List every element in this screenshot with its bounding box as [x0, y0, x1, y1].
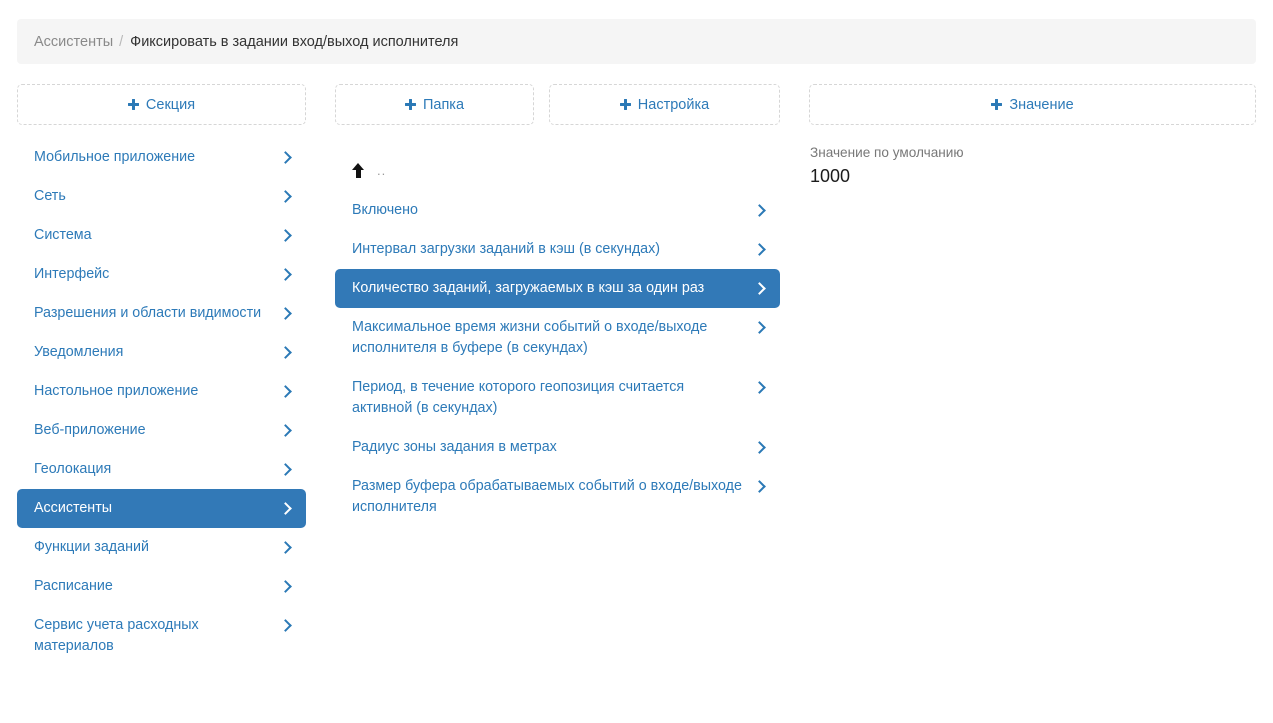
section-list-item[interactable]: Сервис учета расходных материалов	[17, 606, 306, 666]
section-list-item-label: Разрешения и области видимости	[34, 303, 270, 324]
section-list-item-label: Уведомления	[34, 342, 270, 363]
chevron-right-icon	[280, 420, 292, 441]
section-list-item-label: Сеть	[34, 186, 270, 207]
breadcrumb-separator: /	[119, 34, 123, 50]
section-list-item[interactable]: Интерфейс	[17, 255, 306, 294]
chevron-right-icon	[754, 476, 766, 497]
arrow-up-icon	[352, 163, 365, 178]
parent-folder-row[interactable]: ..	[335, 149, 780, 191]
setting-list-item-label: Включено	[352, 200, 744, 221]
chevron-right-icon	[280, 576, 292, 597]
plus-icon	[991, 99, 1002, 110]
section-list-item[interactable]: Мобильное приложение	[17, 138, 306, 177]
section-list-item[interactable]: Функции заданий	[17, 528, 306, 567]
setting-list-item-label: Период, в течение которого геопозиция сч…	[352, 377, 744, 419]
section-list-item-label: Система	[34, 225, 270, 246]
add-value-label: Значение	[1009, 97, 1073, 113]
setting-list-item[interactable]: Период, в течение которого геопозиция сч…	[335, 368, 780, 428]
setting-list-item-label: Размер буфера обрабатываемых событий о в…	[352, 476, 744, 518]
plus-icon	[405, 99, 416, 110]
add-section-label: Секция	[146, 97, 195, 113]
chevron-right-icon	[280, 381, 292, 402]
setting-list: ..ВключеноИнтервал загрузки заданий в кэ…	[335, 149, 780, 527]
default-value-block: Значение по умолчанию 1000	[809, 144, 1256, 188]
setting-list-item[interactable]: Включено	[335, 191, 780, 230]
setting-list-item-label: Максимальное время жизни событий о входе…	[352, 317, 744, 359]
setting-column: Настройка	[549, 84, 780, 125]
section-column: Секция Мобильное приложениеСетьСистемаИн…	[17, 84, 306, 666]
chevron-right-icon	[280, 303, 292, 324]
add-folder-label: Папка	[423, 97, 464, 113]
setting-list-item[interactable]: Максимальное время жизни событий о входе…	[335, 308, 780, 368]
folder-column: Папка	[335, 84, 534, 125]
chevron-right-icon	[754, 317, 766, 338]
section-list-item-label: Расписание	[34, 576, 270, 597]
chevron-right-icon	[280, 342, 292, 363]
add-section-button[interactable]: Секция	[17, 84, 306, 125]
section-list-item-label: Интерфейс	[34, 264, 270, 285]
chevron-right-icon	[280, 537, 292, 558]
breadcrumb-current: Фиксировать в задании вход/выход исполни…	[130, 34, 458, 50]
setting-list-item-label: Интервал загрузки заданий в кэш (в секун…	[352, 239, 744, 260]
chevron-right-icon	[280, 147, 292, 168]
chevron-right-icon	[754, 278, 766, 299]
setting-list-item-label: Радиус зоны задания в метрах	[352, 437, 744, 458]
default-value-number: 1000	[810, 164, 1255, 188]
breadcrumb: Ассистенты / Фиксировать в задании вход/…	[17, 19, 1256, 64]
section-list-item-label: Веб-приложение	[34, 420, 270, 441]
setting-list-item[interactable]: Радиус зоны задания в метрах	[335, 428, 780, 467]
setting-list-item-label: Количество заданий, загружаемых в кэш за…	[352, 278, 744, 299]
chevron-right-icon	[280, 615, 292, 636]
section-list-item[interactable]: Геолокация	[17, 450, 306, 489]
section-list-item-label: Сервис учета расходных материалов	[34, 615, 270, 657]
breadcrumb-parent-link[interactable]: Ассистенты	[34, 34, 113, 50]
default-value-caption: Значение по умолчанию	[810, 144, 1255, 162]
section-list-item-label: Мобильное приложение	[34, 147, 270, 168]
add-folder-button[interactable]: Папка	[335, 84, 534, 125]
section-list-item-label: Функции заданий	[34, 537, 270, 558]
chevron-right-icon	[754, 239, 766, 260]
add-setting-label: Настройка	[638, 97, 709, 113]
section-list-item-label: Ассистенты	[34, 498, 270, 519]
chevron-right-icon	[754, 377, 766, 398]
section-list-item[interactable]: Сеть	[17, 177, 306, 216]
add-setting-button[interactable]: Настройка	[549, 84, 780, 125]
chevron-right-icon	[280, 498, 292, 519]
chevron-right-icon	[280, 264, 292, 285]
section-list-item[interactable]: Веб-приложение	[17, 411, 306, 450]
parent-folder-label: ..	[377, 163, 386, 178]
add-value-button[interactable]: Значение	[809, 84, 1256, 125]
section-list-item[interactable]: Расписание	[17, 567, 306, 606]
section-list-item-label: Настольное приложение	[34, 381, 270, 402]
section-list-item[interactable]: Ассистенты	[17, 489, 306, 528]
section-list-item[interactable]: Разрешения и области видимости	[17, 294, 306, 333]
setting-list-item[interactable]: Размер буфера обрабатываемых событий о в…	[335, 467, 780, 527]
setting-list-item[interactable]: Интервал загрузки заданий в кэш (в секун…	[335, 230, 780, 269]
value-column: Значение Значение по умолчанию 1000	[809, 84, 1256, 188]
chevron-right-icon	[754, 437, 766, 458]
plus-icon	[620, 99, 631, 110]
section-list-item[interactable]: Настольное приложение	[17, 372, 306, 411]
section-list-item[interactable]: Уведомления	[17, 333, 306, 372]
setting-list-item[interactable]: Количество заданий, загружаемых в кэш за…	[335, 269, 780, 308]
plus-icon	[128, 99, 139, 110]
chevron-right-icon	[280, 225, 292, 246]
chevron-right-icon	[280, 186, 292, 207]
section-list: Мобильное приложениеСетьСистемаИнтерфейс…	[17, 138, 306, 666]
chevron-right-icon	[754, 200, 766, 221]
section-list-item-label: Геолокация	[34, 459, 270, 480]
chevron-right-icon	[280, 459, 292, 480]
section-list-item[interactable]: Система	[17, 216, 306, 255]
